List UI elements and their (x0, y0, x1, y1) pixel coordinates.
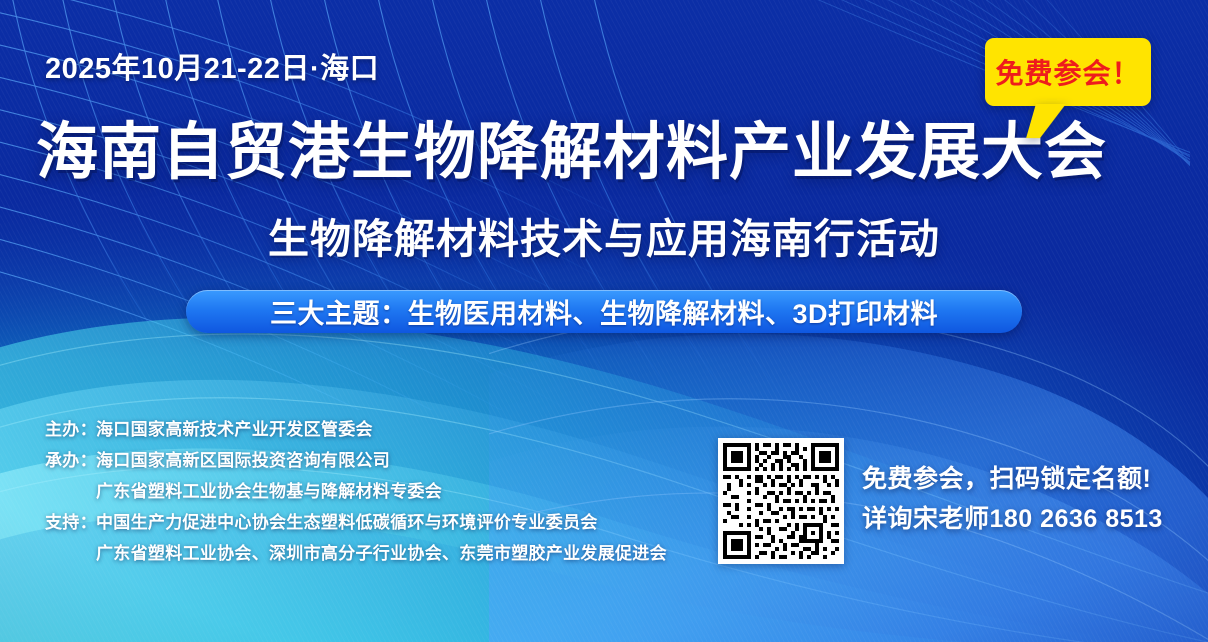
free-admission-badge-label: 免费参会！ (995, 52, 1140, 92)
organizer-row: 广东省塑料工业协会、深圳市高分子行业协会、东莞市塑胶产业发展促进会 (45, 539, 667, 570)
qr-code-icon (723, 443, 839, 559)
organizer-row: 广东省塑料工业协会生物基与降解材料专委会 (45, 477, 667, 508)
contact-block: 免费参会，扫码锁定名额! 详询宋老师180 2636 8513 (862, 460, 1163, 539)
conference-poster: 2025年10月21-22日·海口 海南自贸港生物降解材料产业发展大会 生物降解… (0, 0, 1208, 642)
organizer-name: 广东省塑料工业协会、深圳市高分子行业协会、东莞市塑胶产业发展促进会 (96, 539, 667, 564)
organizer-label: 主办： (45, 415, 96, 440)
organizer-name: 广东省塑料工业协会生物基与降解材料专委会 (96, 477, 442, 502)
page-subtitle: 生物降解材料技术与应用海南行活动 (0, 205, 1208, 265)
themes-banner-label: 三大主题：生物医用材料、生物降解材料、3D打印材料 (270, 292, 938, 331)
contact-cta: 免费参会，扫码锁定名额! (862, 460, 1163, 500)
contact-phone: 详询宋老师180 2636 8513 (862, 500, 1163, 540)
organizers-block: 主办： 海口国家高新技术产业开发区管委会 承办： 海口国家高新区国际投资咨询有限… (45, 415, 667, 570)
organizer-name: 中国生产力促进中心协会生态塑料低碳循环与环境评价专业委员会 (96, 508, 598, 533)
themes-banner: 三大主题：生物医用材料、生物降解材料、3D打印材料 (186, 290, 1022, 333)
poster-content: 2025年10月21-22日·海口 海南自贸港生物降解材料产业发展大会 生物降解… (0, 0, 1208, 642)
organizer-row: 支持： 中国生产力促进中心协会生态塑料低碳循环与环境评价专业委员会 (45, 508, 667, 539)
page-title: 海南自贸港生物降解材料产业发展大会 (36, 120, 1176, 185)
organizer-label: 支持： (45, 508, 96, 533)
event-date-location: 2025年10月21-22日·海口 (45, 45, 379, 87)
qr-code[interactable] (718, 438, 844, 564)
organizer-label: 承办： (45, 446, 96, 471)
free-admission-badge: 免费参会！ (985, 38, 1151, 106)
organizer-name: 海口国家高新技术产业开发区管委会 (96, 415, 373, 440)
organizer-row: 主办： 海口国家高新技术产业开发区管委会 (45, 415, 667, 446)
organizer-name: 海口国家高新区国际投资咨询有限公司 (96, 446, 390, 471)
organizer-row: 承办： 海口国家高新区国际投资咨询有限公司 (45, 446, 667, 477)
